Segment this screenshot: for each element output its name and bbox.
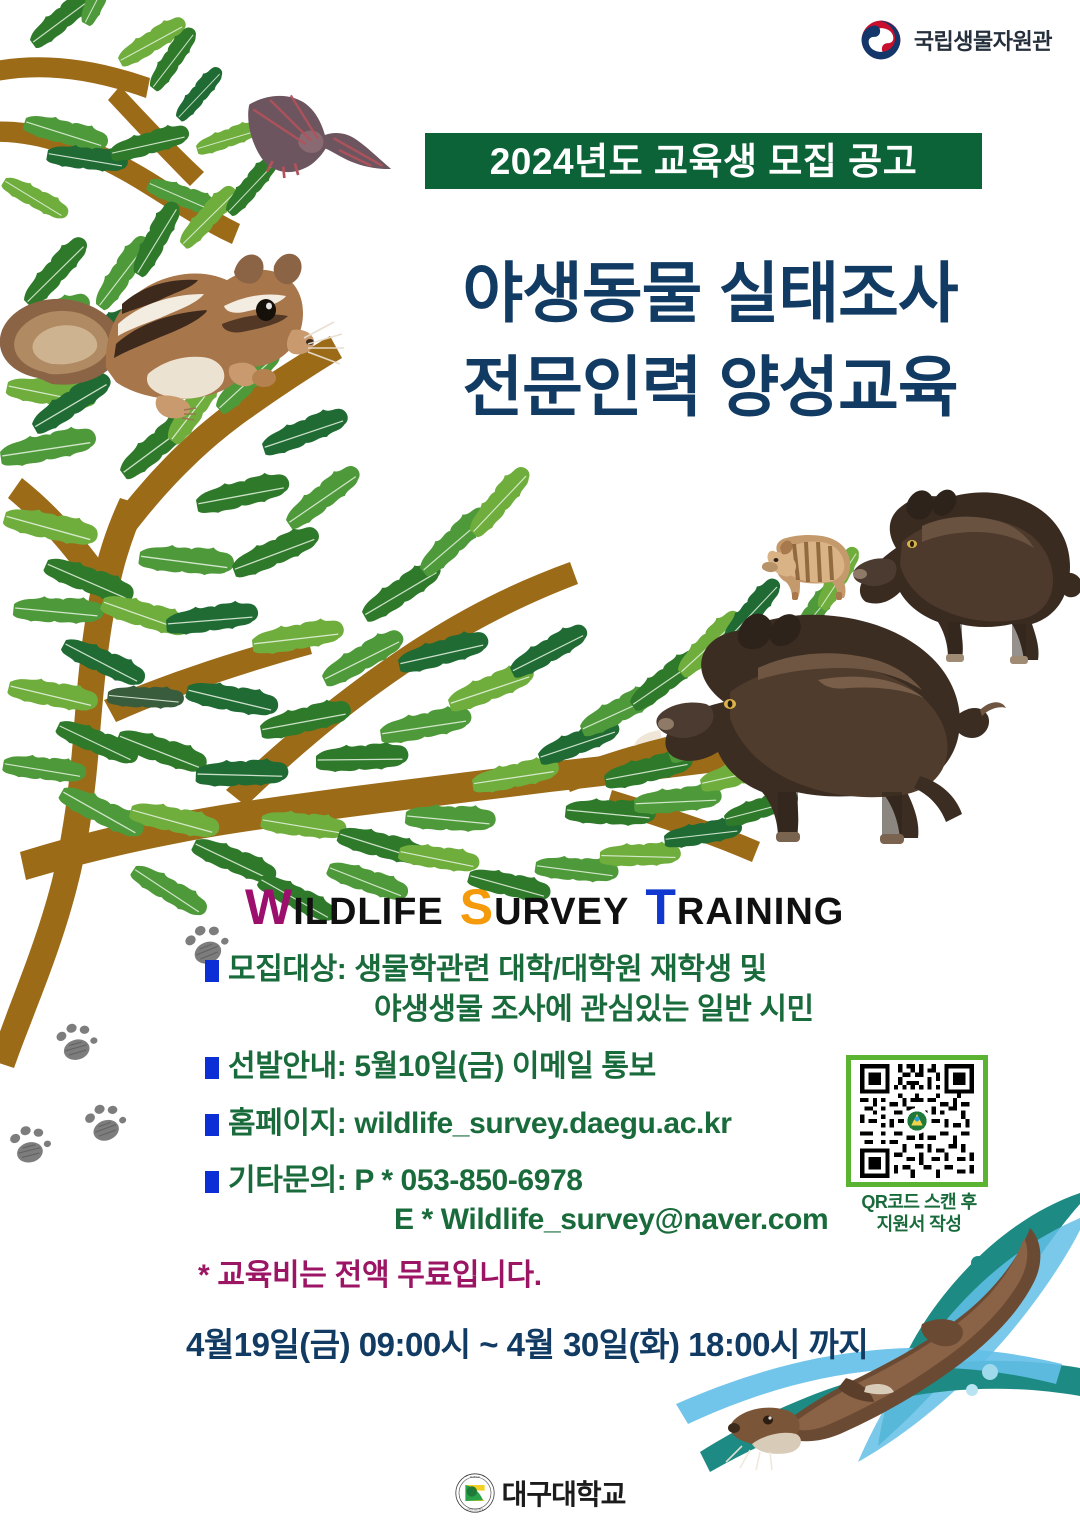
paw-prints: [7, 918, 234, 1167]
poster-artwork: [0, 0, 1080, 1527]
page-title-line-2: 전문인력 양성교육: [380, 341, 1040, 435]
svg-text:UNIVERSITY: UNIVERSITY: [466, 1509, 483, 1512]
bullet-square-icon: [205, 1171, 219, 1193]
info-item-contact: 기타문의: P * 053-850-6978 E * Wildlife_surv…: [205, 1161, 905, 1241]
qr-code-block[interactable]: QR코드 스캔 후 지원서 작성: [846, 1055, 992, 1236]
subtitle-word-wildlife: ILDLIFE: [293, 891, 444, 933]
government-logo-label: 국립생물자원관: [914, 24, 1052, 56]
wild-boar-adult-lower: [634, 614, 1006, 844]
info-item-homepage[interactable]: 홈페이지: wildlife_survey.daegu.ac.kr: [205, 1104, 905, 1144]
wild-boar-adult-upper: [853, 490, 1080, 664]
university-logo: DAEGU UNIVERSITY 대구대학교: [0, 1473, 1080, 1513]
application-period: 4월19일(금) 09:00시 ~ 4월 30일(화) 18:00시 까지: [186, 1318, 868, 1366]
info-item-target-line-1: 모집대상: 생물학관련 대학/대학원 재학생 및: [228, 950, 905, 990]
subtitle-word-training: RAINING: [677, 891, 844, 933]
subtitle-word-survey: URVEY: [494, 891, 629, 933]
qr-code-caption-line-2: 지원서 작성: [846, 1214, 992, 1236]
bullet-square-icon: [205, 960, 219, 982]
svg-text:DAEGU: DAEGU: [470, 1476, 480, 1479]
page-title-line-1: 야생동물 실태조사: [380, 247, 1040, 341]
free-tuition-note: * 교육비는 전액 무료입니다.: [198, 1250, 542, 1294]
info-list: 모집대상: 생물학관련 대학/대학원 재학생 및 야생생물 조사에 관심있는 일…: [205, 950, 905, 1257]
announcement-banner: 2024년도 교육생 모집 공고: [425, 133, 982, 189]
bullet-square-icon: [205, 1114, 219, 1136]
qr-code-image[interactable]: [846, 1055, 988, 1187]
info-item-contact-phone: 기타문의: P * 053-850-6978: [228, 1161, 905, 1201]
info-item-homepage-line-1[interactable]: 홈페이지: wildlife_survey.daegu.ac.kr: [228, 1104, 905, 1144]
korea-government-taegeuk-icon: [859, 18, 903, 62]
announcement-banner-text: 2024년도 교육생 모집 공고: [490, 143, 918, 180]
subtitle-initial-w: W: [245, 879, 293, 935]
qr-code-caption-line-1: QR코드 스캔 후: [846, 1192, 992, 1214]
wild-boar-piglet: [762, 535, 850, 600]
bullet-square-icon: [205, 1057, 219, 1079]
poster-canvas: 국립생물자원관 2024년도 교육생 모집 공고 야생동물 실태조사 전문인력 …: [0, 0, 1080, 1527]
government-logo: 국립생물자원관: [859, 18, 1052, 62]
english-subtitle: WILDLIFESURVEYTRAINING: [245, 878, 905, 936]
info-item-contact-email[interactable]: E * Wildlife_survey@naver.com: [228, 1200, 905, 1240]
subtitle-initial-t: T: [645, 879, 677, 935]
info-item-target-line-2: 야생생물 조사에 관심있는 일반 시민: [228, 990, 905, 1030]
qr-code-caption: QR코드 스캔 후 지원서 작성: [846, 1192, 992, 1236]
info-item-selection-line-1: 선발안내: 5월10일(금) 이메일 통보: [228, 1047, 905, 1087]
daegu-university-emblem-icon: DAEGU UNIVERSITY: [455, 1473, 495, 1513]
university-logo-label: 대구대학교: [502, 1473, 626, 1513]
bat-illustration: [242, 91, 398, 189]
info-item-selection: 선발안내: 5월10일(금) 이메일 통보: [205, 1047, 905, 1087]
info-item-target: 모집대상: 생물학관련 대학/대학원 재학생 및 야생생물 조사에 관심있는 일…: [205, 950, 905, 1030]
page-title: 야생동물 실태조사 전문인력 양성교육: [380, 247, 1040, 434]
chipmunk-illustration: [0, 254, 344, 420]
subtitle-initial-s: S: [460, 879, 494, 935]
